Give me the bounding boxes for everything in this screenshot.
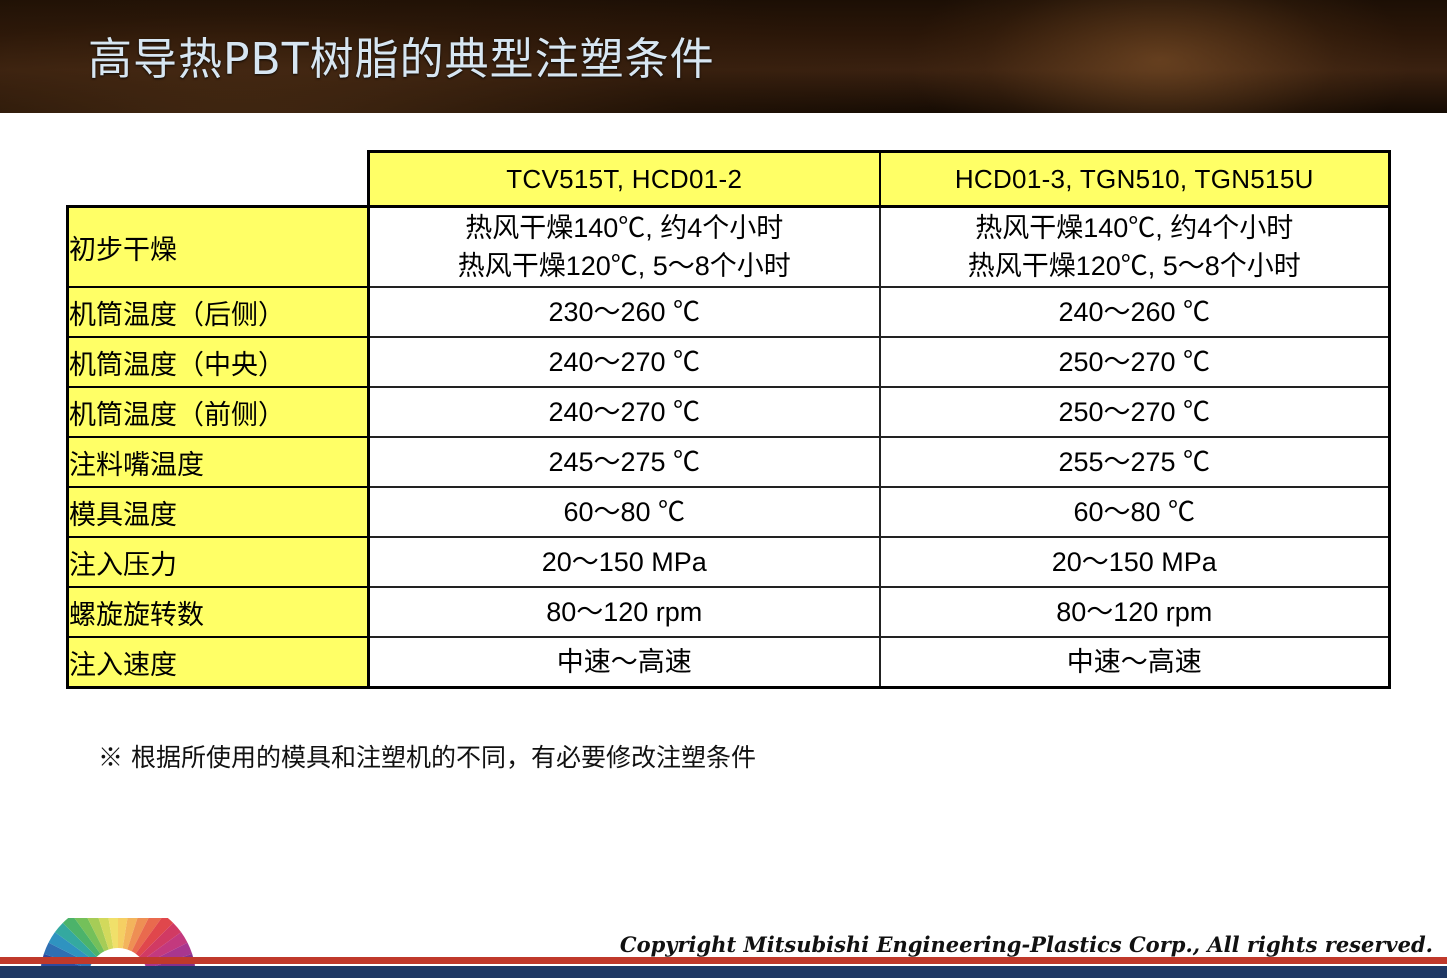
value-line: 245〜275 ℃: [370, 443, 879, 481]
cell-value-grade-a: 240〜270 ℃: [369, 337, 880, 387]
cell-value-grade-a: 20〜150 MPa: [369, 537, 880, 587]
value-line: 20〜150 MPa: [370, 543, 879, 581]
row-label: 初步干燥: [68, 207, 369, 288]
value-line: 240〜270 ℃: [370, 393, 879, 431]
row-label: 模具温度: [68, 487, 369, 537]
cell-value-grade-a: 245〜275 ℃: [369, 437, 880, 487]
row-label: 注入速度: [68, 637, 369, 688]
table-corner-cell: [68, 152, 369, 207]
row-label: 螺旋旋转数: [68, 587, 369, 637]
value-line: 250〜270 ℃: [881, 343, 1389, 381]
title-banner: 高导热PBT树脂的典型注塑条件: [0, 0, 1447, 113]
table-row: 机筒温度（中央）240〜270 ℃250〜270 ℃: [68, 337, 1390, 387]
table-row: 注入压力20〜150 MPa20〜150 MPa: [68, 537, 1390, 587]
page-title: 高导热PBT树脂的典型注塑条件: [88, 34, 715, 86]
cell-value-grade-b: 240〜260 ℃: [880, 287, 1390, 337]
row-label: 机筒温度（前侧）: [68, 387, 369, 437]
value-line: 240〜260 ℃: [881, 293, 1389, 331]
copyright-notice: Copyright Mitsubishi Engineering-Plastic…: [620, 932, 1433, 957]
value-line: 中速〜高速: [881, 643, 1389, 681]
cell-value-grade-b: 60〜80 ℃: [880, 487, 1390, 537]
cell-value-grade-b: 20〜150 MPa: [880, 537, 1390, 587]
table-header-row: TCV515T, HCD01-2 HCD01-3, TGN510, TGN515…: [68, 152, 1390, 207]
table-row: 机筒温度（后侧）230〜260 ℃240〜260 ℃: [68, 287, 1390, 337]
value-line: 20〜150 MPa: [881, 543, 1389, 581]
cell-value-grade-a: 热风干燥140℃, 约4个小时热风干燥120℃, 5〜8个小时: [369, 207, 880, 288]
table-row: 初步干燥热风干燥140℃, 约4个小时热风干燥120℃, 5〜8个小时热风干燥1…: [68, 207, 1390, 288]
cell-value-grade-a: 中速〜高速: [369, 637, 880, 688]
value-line: 60〜80 ℃: [881, 493, 1389, 531]
cell-value-grade-a: 60〜80 ℃: [369, 487, 880, 537]
value-line: 热风干燥140℃, 约4个小时: [370, 209, 879, 247]
table-row: 螺旋旋转数80〜120 rpm80〜120 rpm: [68, 587, 1390, 637]
table-row: 机筒温度（前侧）240〜270 ℃250〜270 ℃: [68, 387, 1390, 437]
cell-value-grade-b: 250〜270 ℃: [880, 387, 1390, 437]
value-line: 热风干燥120℃, 5〜8个小时: [881, 247, 1389, 285]
value-line: 中速〜高速: [370, 643, 879, 681]
column-header-grade-b: HCD01-3, TGN510, TGN515U: [880, 152, 1390, 207]
cell-value-grade-b: 250〜270 ℃: [880, 337, 1390, 387]
column-header-grade-a: TCV515T, HCD01-2: [369, 152, 880, 207]
table-row: 注料嘴温度245〜275 ℃255〜275 ℃: [68, 437, 1390, 487]
cell-value-grade-a: 80〜120 rpm: [369, 587, 880, 637]
row-label: 注料嘴温度: [68, 437, 369, 487]
value-line: 80〜120 rpm: [370, 593, 879, 631]
cell-value-grade-b: 热风干燥140℃, 约4个小时热风干燥120℃, 5〜8个小时: [880, 207, 1390, 288]
value-line: 255〜275 ℃: [881, 443, 1389, 481]
footer-navy-rule: [0, 966, 1447, 978]
value-line: 230〜260 ℃: [370, 293, 879, 331]
value-line: 热风干燥120℃, 5〜8个小时: [370, 247, 879, 285]
footer-red-rule: [0, 957, 1447, 964]
row-label: 机筒温度（后侧）: [68, 287, 369, 337]
value-line: 240〜270 ℃: [370, 343, 879, 381]
value-line: 热风干燥140℃, 约4个小时: [881, 209, 1389, 247]
table-row: 模具温度60〜80 ℃60〜80 ℃: [68, 487, 1390, 537]
footnote-text: ※ 根据所使用的模具和注塑机的不同，有必要修改注塑条件: [98, 738, 756, 774]
cell-value-grade-b: 80〜120 rpm: [880, 587, 1390, 637]
cell-value-grade-a: 240〜270 ℃: [369, 387, 880, 437]
table-row: 注入速度中速〜高速中速〜高速: [68, 637, 1390, 688]
injection-conditions-table: TCV515T, HCD01-2 HCD01-3, TGN510, TGN515…: [66, 150, 1391, 689]
row-label: 注入压力: [68, 537, 369, 587]
value-line: 250〜270 ℃: [881, 393, 1389, 431]
value-line: 80〜120 rpm: [881, 593, 1389, 631]
cell-value-grade-b: 中速〜高速: [880, 637, 1390, 688]
value-line: 60〜80 ℃: [370, 493, 879, 531]
row-label: 机筒温度（中央）: [68, 337, 369, 387]
cell-value-grade-a: 230〜260 ℃: [369, 287, 880, 337]
cell-value-grade-b: 255〜275 ℃: [880, 437, 1390, 487]
table-body: 初步干燥热风干燥140℃, 约4个小时热风干燥120℃, 5〜8个小时热风干燥1…: [68, 207, 1390, 688]
